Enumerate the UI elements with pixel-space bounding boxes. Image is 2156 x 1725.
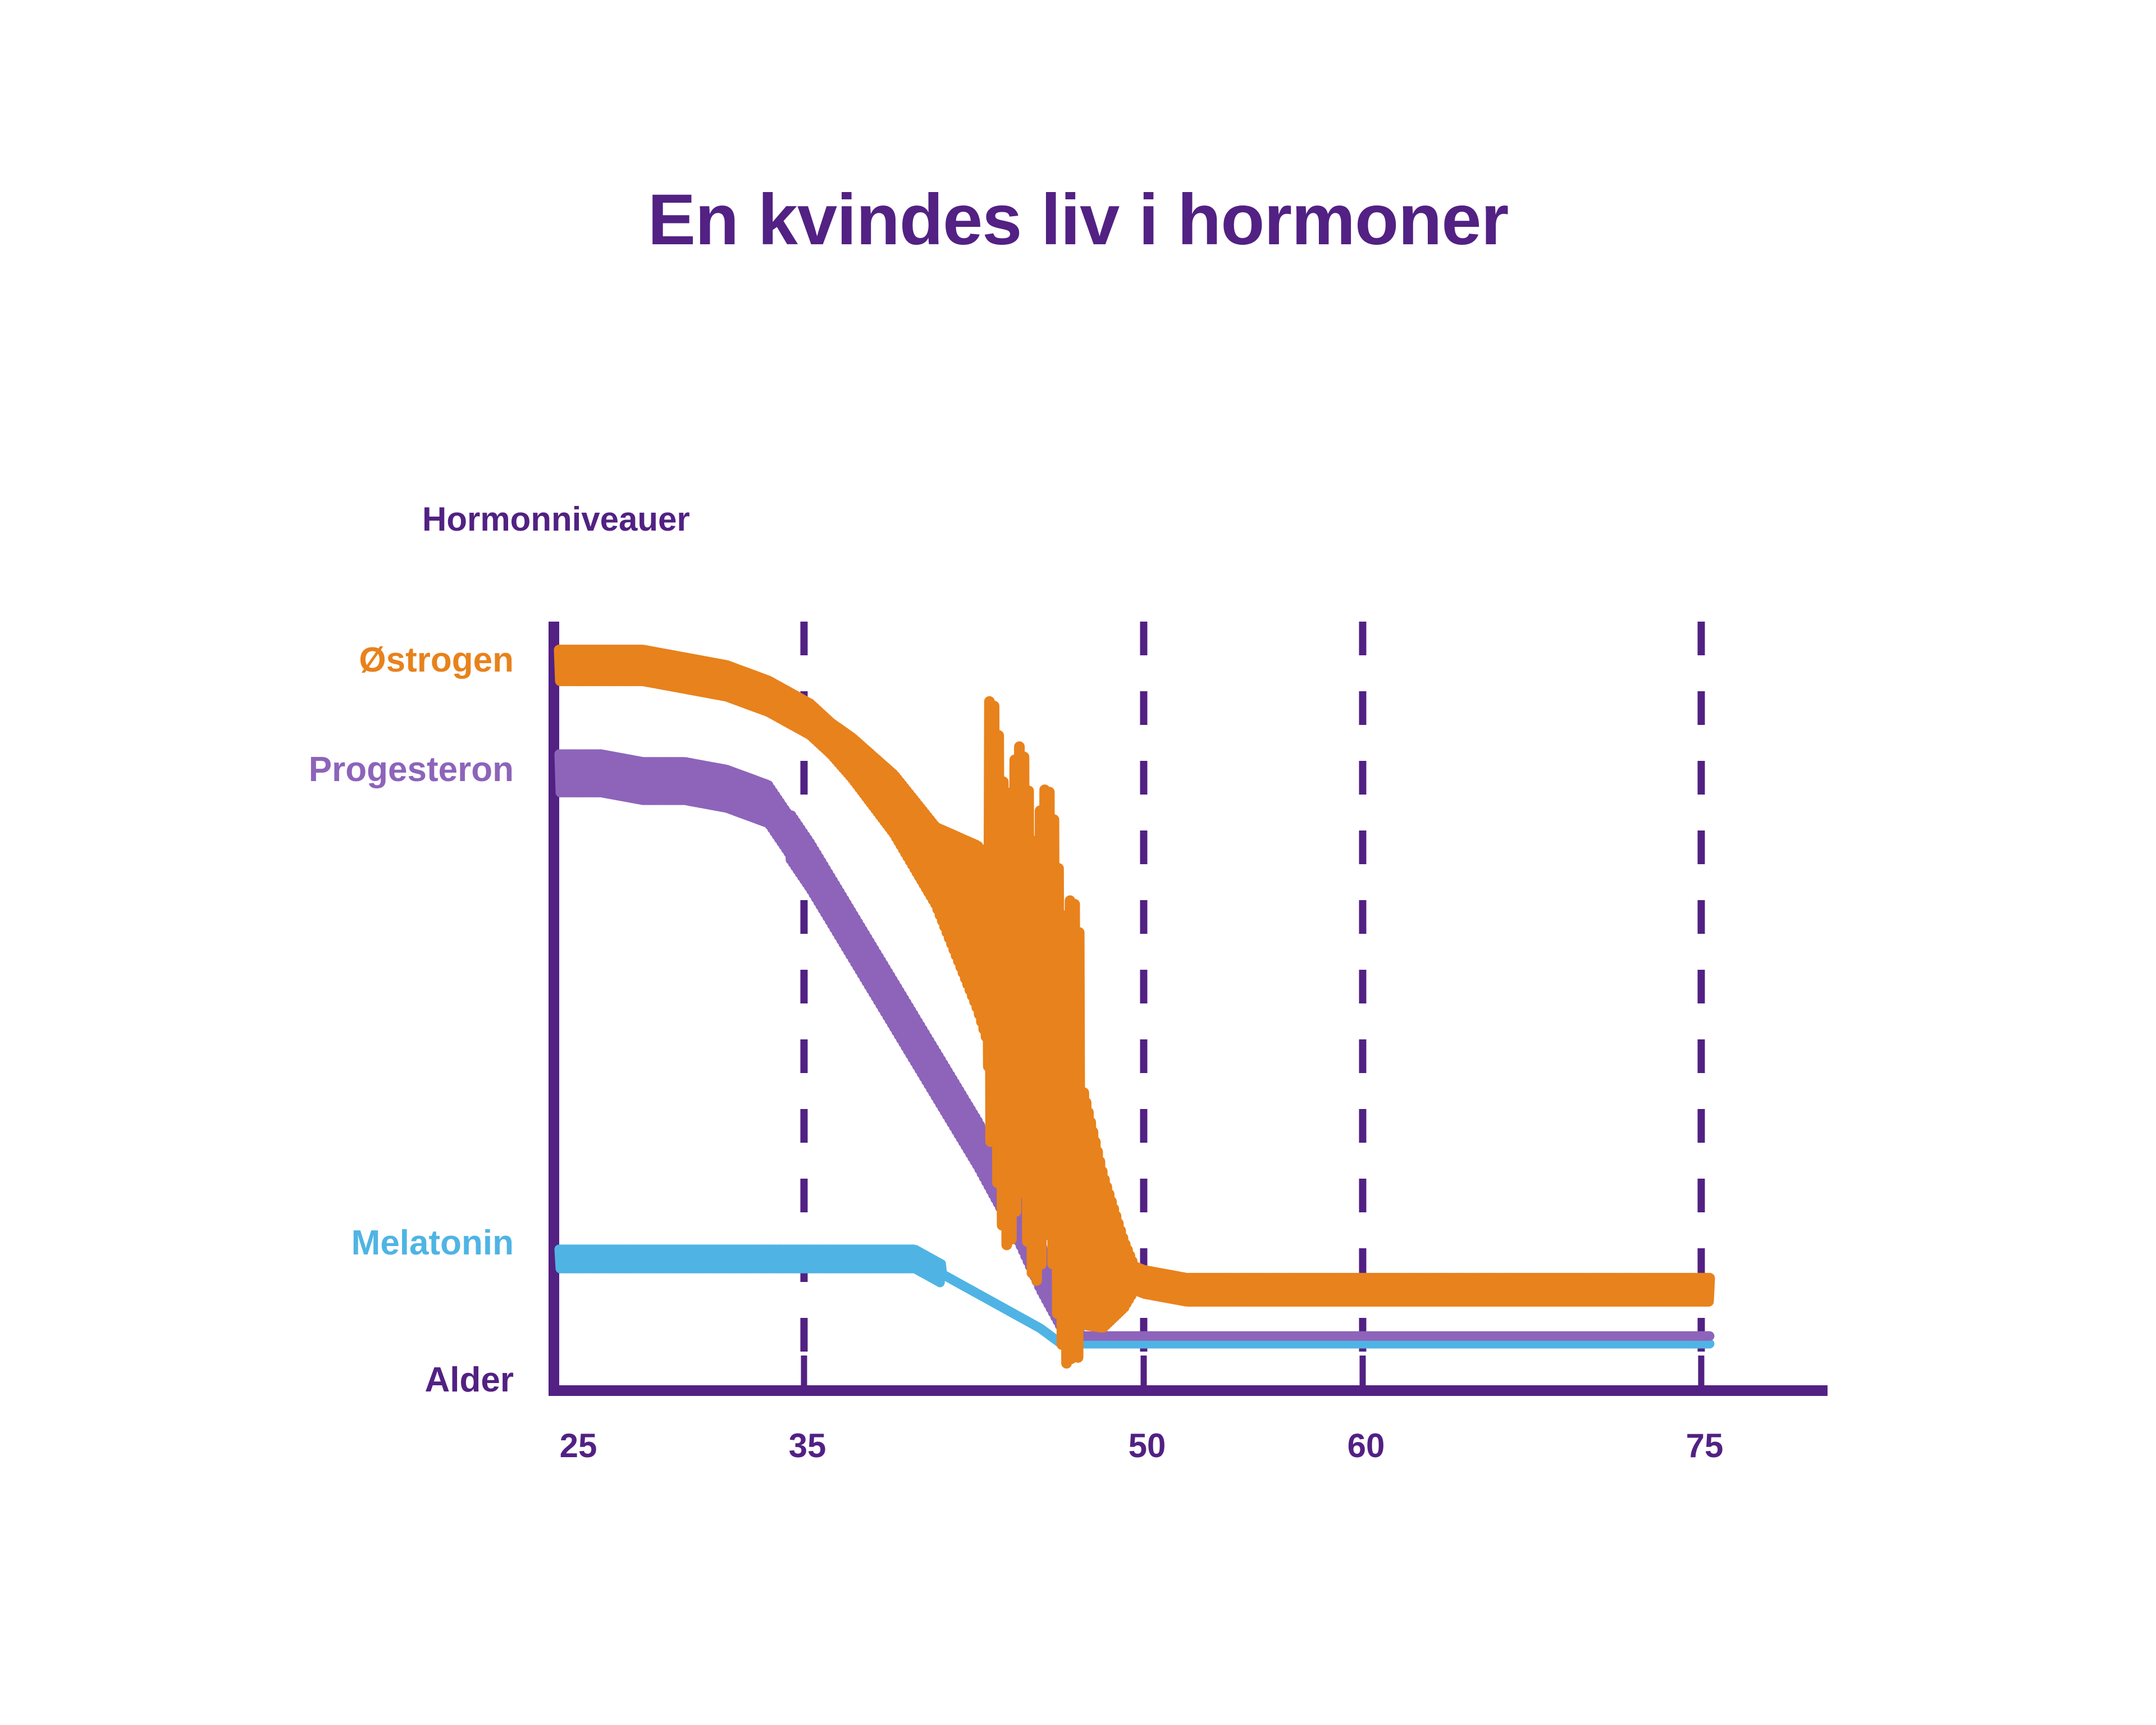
- y-axis-line: [549, 622, 559, 1395]
- chart-canvas: En kvindes liv i hormoner Hormonniveauer…: [0, 0, 2156, 1725]
- x-axis-tick-marks: [804, 1356, 1701, 1385]
- x-axis-line: [549, 1385, 1828, 1396]
- plot-area: [0, 0, 2156, 1725]
